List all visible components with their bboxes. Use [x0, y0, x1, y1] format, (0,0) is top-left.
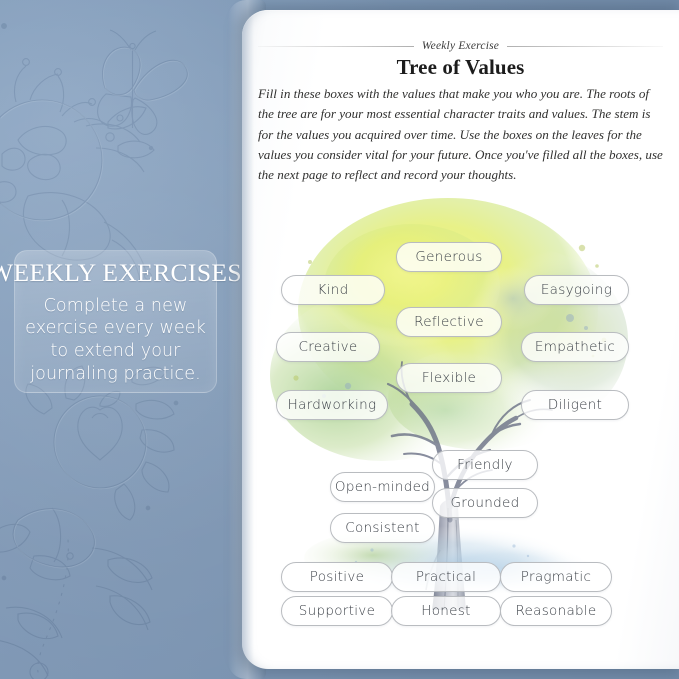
value-box[interactable]: Friendly [432, 450, 538, 480]
eyebrow-label: Weekly Exercise [422, 40, 499, 52]
value-box[interactable]: Reflective [396, 307, 502, 337]
weekly-exercises-callout: WEEKLY EXERCISES Complete a new exercise… [14, 250, 217, 393]
value-box[interactable]: Flexible [396, 363, 502, 393]
page-title: Tree of Values [258, 55, 663, 80]
callout-title: WEEKLY EXERCISES [0, 260, 242, 286]
value-box[interactable]: Diligent [521, 390, 629, 420]
eyebrow-rule-left [258, 46, 414, 47]
value-box[interactable]: Kind [281, 275, 385, 305]
callout-body: Complete a new exercise every week to ex… [15, 295, 216, 386]
value-box[interactable]: Hardworking [276, 390, 388, 420]
value-box[interactable]: Grounded [432, 488, 538, 518]
value-box[interactable]: Open-minded [330, 472, 435, 502]
eyebrow-rule-right [507, 46, 663, 47]
value-box[interactable]: Honest [391, 596, 501, 626]
value-box[interactable]: Empathetic [521, 332, 629, 362]
eyebrow: Weekly Exercise [258, 40, 663, 52]
value-box[interactable]: Positive [281, 562, 393, 592]
value-box[interactable]: Practical [391, 562, 501, 592]
value-box[interactable]: Easygoing [524, 275, 629, 305]
journal-cover-screenshot: WEEKLY EXERCISES Complete a new exercise… [0, 0, 679, 679]
page-intro-text: Fill in these boxes with the values that… [258, 84, 666, 185]
value-box[interactable]: Creative [276, 332, 380, 362]
value-box[interactable]: Pragmatic [500, 562, 612, 592]
value-box[interactable]: Generous [396, 242, 502, 272]
value-box[interactable]: Reasonable [500, 596, 612, 626]
value-box[interactable]: Supportive [281, 596, 393, 626]
value-box[interactable]: Consistent [330, 513, 435, 543]
